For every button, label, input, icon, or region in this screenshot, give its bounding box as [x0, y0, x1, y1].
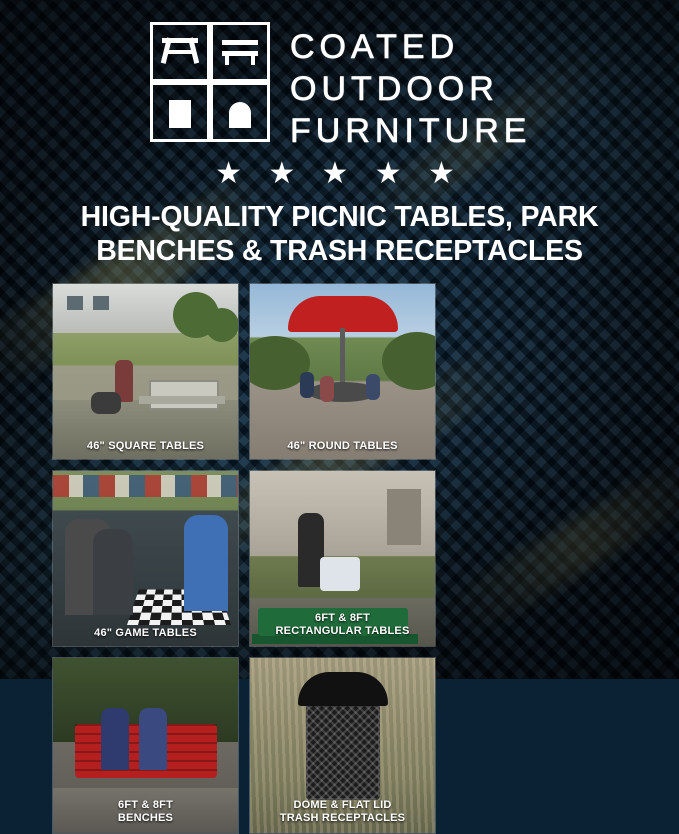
product-gallery: 46" SQUARE TABLES 46" ROUND TABLES 46"	[52, 283, 627, 834]
gallery-card-round-tables[interactable]: 46" ROUND TABLES	[249, 283, 436, 460]
gallery-caption: 6FT & 8FT BENCHES	[53, 795, 238, 831]
brand-wordmark: COATED OUTDOOR FURNITURE	[290, 26, 531, 152]
dome-lid-can-icon	[210, 82, 270, 142]
picnic-table-icon	[150, 22, 210, 82]
gallery-caption-line-1: 6FT & 8FT	[252, 612, 433, 625]
trash-can-icon	[150, 82, 210, 142]
promo-content: COATED OUTDOOR FURNITURE ★ ★ ★ ★ ★ HIGH-…	[0, 0, 679, 679]
gallery-caption-line-2: BENCHES	[55, 812, 236, 825]
gallery-card-benches[interactable]: 6FT & 8FT BENCHES	[52, 657, 239, 834]
brand-word-2: OUTDOOR	[290, 68, 531, 110]
gallery-card-rectangular-tables[interactable]: 6FT & 8FT RECTANGULAR TABLES	[249, 470, 436, 647]
photo-game-tables	[53, 471, 238, 646]
star-rating: ★ ★ ★ ★ ★	[0, 156, 679, 191]
gallery-card-game-tables[interactable]: 46" GAME TABLES	[52, 470, 239, 647]
gallery-caption: DOME & FLAT LID TRASH RECEPTACLES	[250, 795, 435, 831]
gallery-caption-line-1: DOME & FLAT LID	[252, 799, 433, 812]
brand-word-3: FURNITURE	[290, 110, 531, 152]
gallery-caption: 46" SQUARE TABLES	[53, 436, 238, 459]
photo-square-tables	[53, 284, 238, 459]
brand-word-1: COATED	[290, 26, 531, 68]
headline-line-2: BENCHES & TRASH RECEPTACLES	[40, 234, 639, 268]
gallery-caption: 46" GAME TABLES	[53, 623, 238, 646]
gallery-caption-line-1: 6FT & 8FT	[55, 799, 236, 812]
gallery-caption-line-2: RECTANGULAR TABLES	[252, 625, 433, 638]
gallery-caption-line-2: TRASH RECEPTACLES	[252, 812, 433, 825]
page-title: HIGH-QUALITY PICNIC TABLES, PARK BENCHES…	[40, 200, 639, 268]
gallery-card-square-tables[interactable]: 46" SQUARE TABLES	[52, 283, 239, 460]
headline-line-1: HIGH-QUALITY PICNIC TABLES, PARK	[40, 200, 639, 234]
gallery-card-trash-receptacles[interactable]: DOME & FLAT LID TRASH RECEPTACLES	[249, 657, 436, 834]
logo-icon-grid	[150, 22, 270, 142]
photo-round-tables	[250, 284, 435, 459]
park-bench-icon	[210, 22, 270, 82]
brand-logo: COATED OUTDOOR FURNITURE	[150, 22, 531, 152]
gallery-caption: 6FT & 8FT RECTANGULAR TABLES	[250, 608, 435, 644]
gallery-caption: 46" ROUND TABLES	[250, 436, 435, 459]
